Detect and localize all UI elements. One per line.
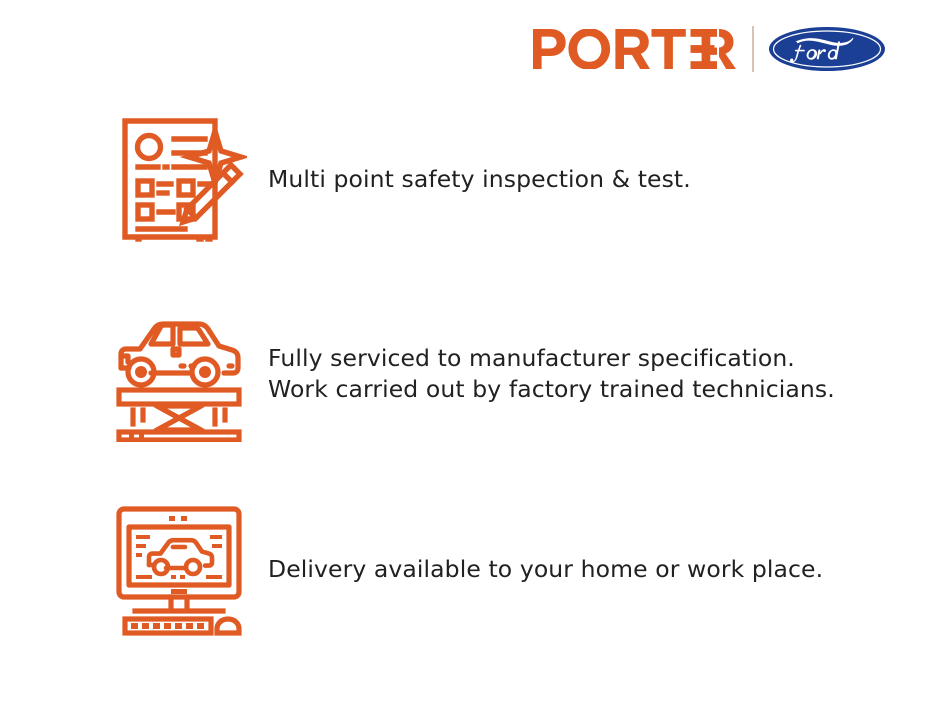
desktop-computer-car-icon — [111, 501, 247, 637]
clipboard-checklist-pencil-icon — [111, 111, 247, 247]
feature-list: Multi point safety inspection & test. — [104, 104, 904, 644]
brand-lockup — [533, 18, 893, 80]
feature-text: Multi point safety inspection & test. — [268, 164, 904, 195]
brand-divider — [752, 26, 754, 72]
slide-canvas: Multi point safety inspection & test. — [0, 0, 938, 704]
feature-row: Fully serviced to manufacturer specifica… — [104, 299, 904, 449]
feature-text: Fully serviced to manufacturer specifica… — [268, 343, 904, 405]
feature-row: Delivery available to your home or work … — [104, 494, 904, 644]
porter-logo — [533, 29, 736, 69]
feature-row: Multi point safety inspection & test. — [104, 104, 904, 254]
feature-icon-wrap — [104, 299, 254, 449]
car-on-scissor-lift-icon — [111, 306, 247, 442]
feature-icon-wrap — [104, 494, 254, 644]
feature-text: Delivery available to your home or work … — [268, 554, 904, 585]
ford-logo — [768, 26, 886, 72]
feature-icon-wrap — [104, 104, 254, 254]
